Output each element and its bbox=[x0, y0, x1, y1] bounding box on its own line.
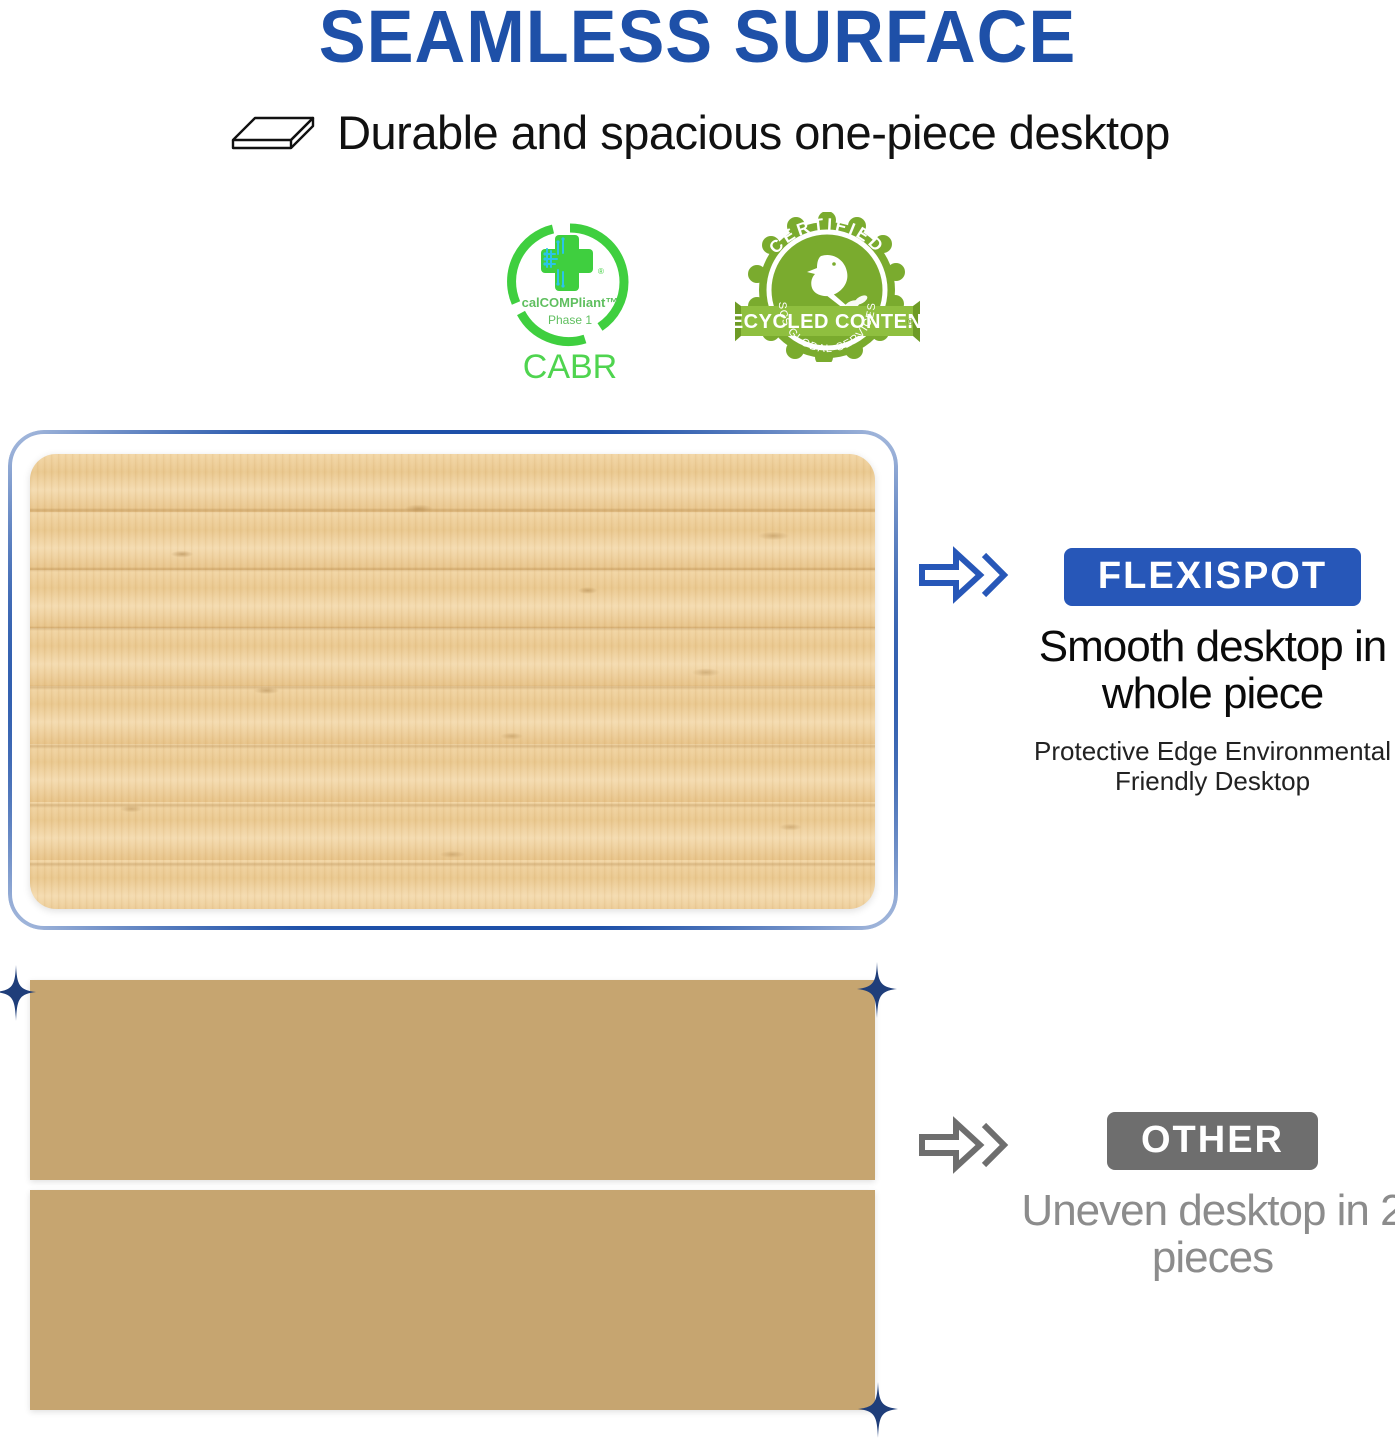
subtitle-text: Durable and spacious one-piece desktop bbox=[337, 105, 1170, 160]
four-point-sparkle-icon bbox=[856, 1382, 900, 1438]
flexispot-subtext: Protective Edge Environmental Friendly D… bbox=[1020, 737, 1395, 797]
scs-registered-mark: ® bbox=[907, 317, 914, 327]
flexispot-brand-badge: FLEXISPOT bbox=[1064, 548, 1361, 606]
desktop-slab-icon bbox=[225, 100, 321, 164]
four-point-sparkle-icon bbox=[0, 965, 36, 1021]
other-headline: Uneven desktop in 2 pieces bbox=[1020, 1188, 1395, 1281]
scs-banner-label: RECYCLED CONTENT bbox=[735, 311, 920, 333]
other-brand-badge: OTHER bbox=[1107, 1112, 1318, 1170]
cabr-caption: CABR bbox=[523, 348, 617, 386]
cabr-phase-label: Phase 1 bbox=[548, 313, 592, 327]
subtitle-row: Durable and spacious one-piece desktop bbox=[0, 100, 1395, 164]
other-text-column: OTHER Uneven desktop in 2 pieces bbox=[1020, 1112, 1395, 1281]
other-desktop-piece-top bbox=[30, 980, 875, 1180]
flexispot-text-column: FLEXISPOT Smooth desktop in whole piece … bbox=[1020, 548, 1395, 797]
flexispot-headline: Smooth desktop in whole piece bbox=[1020, 624, 1395, 717]
page-title: SEAMLESS SURFACE bbox=[35, 0, 1360, 79]
double-chevron-arrow-right-icon-gray bbox=[918, 1115, 1014, 1175]
svg-text:®: ® bbox=[598, 267, 604, 276]
four-point-sparkle-icon bbox=[855, 962, 899, 1018]
certification-badges: ® calCOMPliant™ Phase 1 CABR bbox=[0, 212, 1395, 392]
cabr-compliance-label: calCOMPliant™ bbox=[522, 295, 619, 310]
other-desktop-piece-bottom bbox=[30, 1190, 875, 1410]
bamboo-desktop-single-piece bbox=[30, 454, 875, 909]
double-chevron-arrow-right-icon bbox=[918, 545, 1014, 605]
cabr-badge: ® calCOMPliant™ Phase 1 CABR bbox=[475, 212, 665, 392]
scs-recycled-content-badge: CERTIFIED RECYCLED CONTENT ® SCS GLOBAL … bbox=[735, 212, 920, 367]
